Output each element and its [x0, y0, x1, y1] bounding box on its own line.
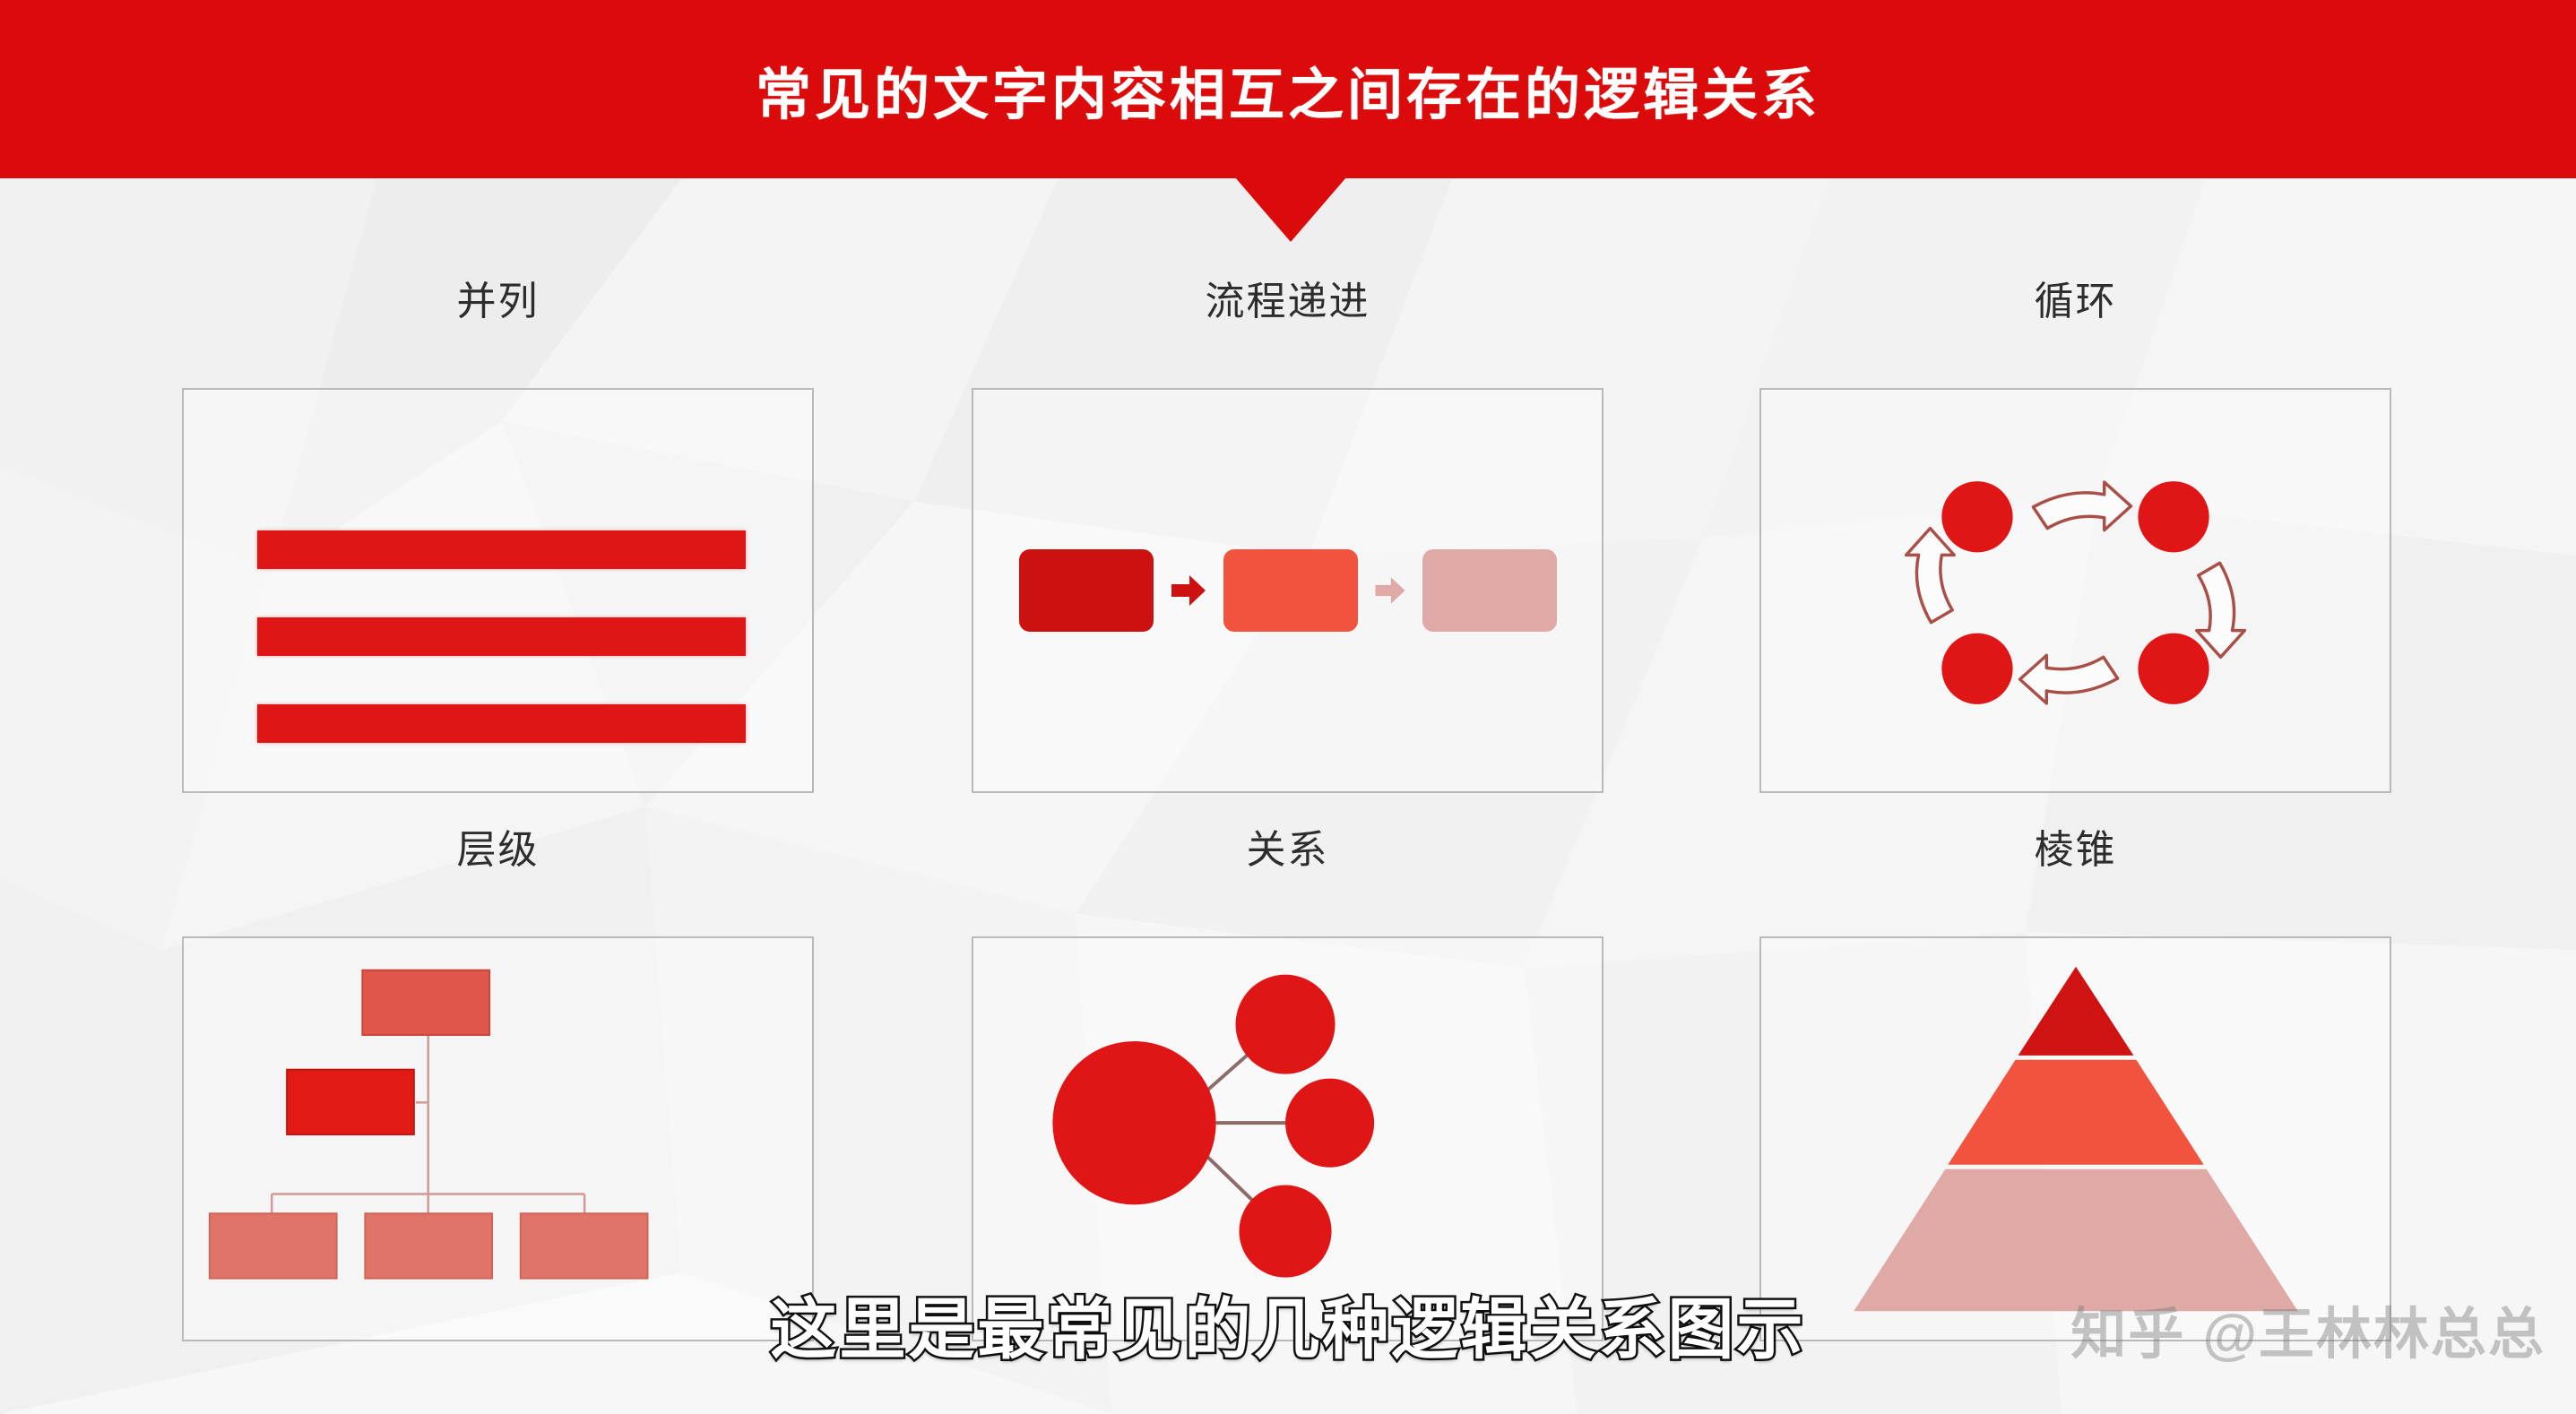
process-step-2 — [1223, 549, 1358, 632]
panel-box-process — [972, 388, 1604, 793]
page-title: 常见的文字内容相互之间存在的逻辑关系 — [0, 0, 2576, 178]
relation-leaf-node-2 — [1285, 1079, 1374, 1168]
panel-label-cycle: 循环 — [1759, 269, 2391, 326]
hierarchy-box-leaf-3 — [521, 1213, 648, 1278]
hierarchy-box-leaf-2 — [365, 1213, 492, 1278]
process-arrow-1-icon — [1168, 570, 1209, 611]
parallel-bar-1 — [257, 530, 746, 569]
parallel-bar-3 — [257, 704, 746, 743]
panel-label-pyramid: 棱锥 — [1759, 817, 2391, 875]
hierarchy-box-leaf-1 — [210, 1213, 337, 1278]
cycle-diagram — [1761, 390, 2390, 791]
process-arrow-2-icon — [1372, 573, 1408, 608]
header-banner: 常见的文字内容相互之间存在的逻辑关系 — [0, 0, 2576, 178]
cycle-node-bottom-left — [1941, 634, 2012, 704]
process-step-3 — [1422, 549, 1557, 632]
parallel-bar-2 — [257, 617, 746, 656]
hierarchy-box-root — [362, 970, 489, 1035]
hierarchy-box-branch — [287, 1070, 414, 1134]
slide-canvas: 常见的文字内容相互之间存在的逻辑关系 并列 流程递进 — [0, 0, 2576, 1414]
panel-box-cycle — [1759, 388, 2391, 793]
panel-label-relation: 关系 — [972, 817, 1604, 875]
cycle-arrow-top-icon — [2033, 482, 2131, 530]
panel-label-hierarchy: 层级 — [182, 817, 814, 875]
relation-leaf-node-1 — [1236, 975, 1336, 1074]
cycle-arrow-left-icon — [1906, 529, 1955, 623]
cycle-arrow-right-icon — [2197, 563, 2245, 657]
subtitle-caption: 这里是最常见的几种逻辑关系图示 — [0, 1276, 2576, 1372]
cycle-node-top-left — [1941, 481, 2012, 552]
pyramid-tier-top — [2018, 967, 2134, 1056]
relation-leaf-node-3 — [1239, 1186, 1331, 1278]
process-step-1 — [1019, 549, 1154, 632]
cycle-node-bottom-right — [2138, 634, 2209, 704]
cycle-arrow-bottom-icon — [2020, 655, 2118, 703]
relation-hub-node — [1052, 1041, 1215, 1204]
banner-pointer-triangle-icon — [1235, 177, 1346, 242]
panel-box-parallel — [182, 388, 814, 793]
panel-label-parallel: 并列 — [182, 269, 814, 326]
pyramid-tier-middle — [1948, 1060, 2203, 1165]
cycle-node-top-right — [2138, 481, 2209, 552]
panel-label-process: 流程递进 — [972, 269, 1604, 326]
